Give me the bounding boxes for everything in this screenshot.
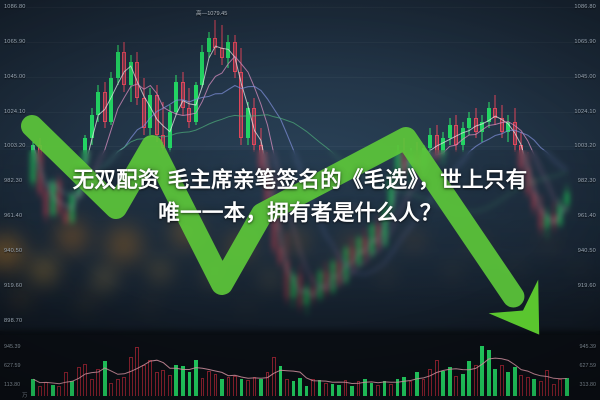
headline: 无双配资 毛主席亲笔签名的《毛选》，世上只有 唯一一本，拥有者是什么人？ bbox=[0, 164, 600, 232]
stock-news-thumbnail: 高—1079.45 1066.05 945.39627.59113.80万 94… bbox=[0, 0, 600, 400]
headline-line-2: 唯一一本，拥有者是什么人？ bbox=[8, 197, 592, 232]
headline-line-1: 无双配资 毛主席亲笔签名的《毛选》，世上只有 bbox=[8, 164, 592, 199]
